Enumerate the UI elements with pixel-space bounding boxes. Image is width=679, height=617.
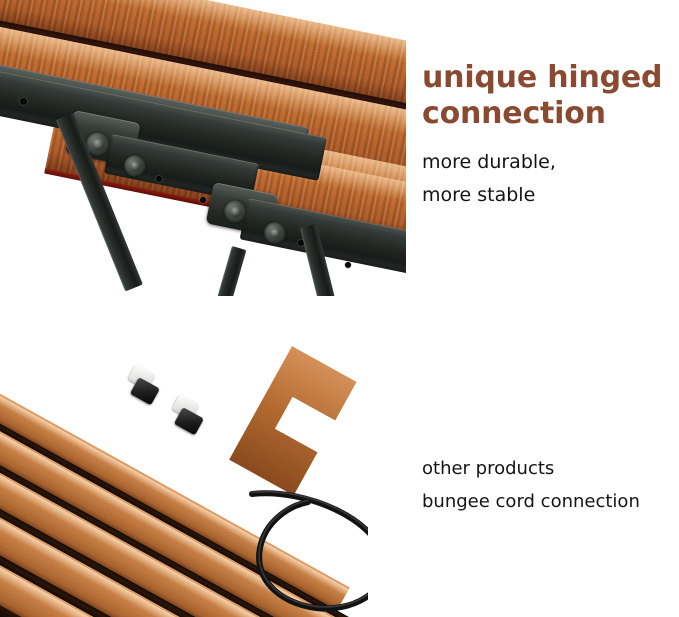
rail-screw-hole-6: [345, 262, 351, 268]
bungee-cord-icon: [246, 482, 368, 617]
headline-subtext: more durable, more stable: [422, 146, 674, 212]
headline-line-2: connection: [422, 96, 674, 132]
slat-end-cap-1: [121, 364, 167, 408]
rail-screw-hole-4: [200, 197, 206, 203]
subtext-line-2: more stable: [422, 179, 674, 212]
top-product-photo: [0, 0, 406, 296]
headline: unique hinged connection: [422, 60, 674, 132]
slat-end-cap-2: [165, 394, 211, 438]
headline-line-1: unique hinged: [422, 60, 674, 96]
rail-screw-hole-1: [20, 98, 27, 105]
hinge-pivot-bolt-4: [264, 222, 286, 244]
subtext-line-1: more durable,: [422, 146, 674, 179]
table-leg-cross: [215, 246, 246, 296]
other-products-line-1: other products: [422, 452, 678, 485]
infographic-canvas: unique hinged connection more durable, m…: [0, 0, 679, 617]
copper-channel-profile: [229, 346, 357, 496]
bottom-product-photo: [0, 322, 368, 617]
other-products-line-2: bungee cord connection: [422, 485, 678, 518]
rail-screw-hole-3: [156, 176, 162, 182]
other-products-caption: other products bungee cord connection: [422, 452, 678, 518]
hinge-pivot-bolt-2: [124, 155, 146, 177]
